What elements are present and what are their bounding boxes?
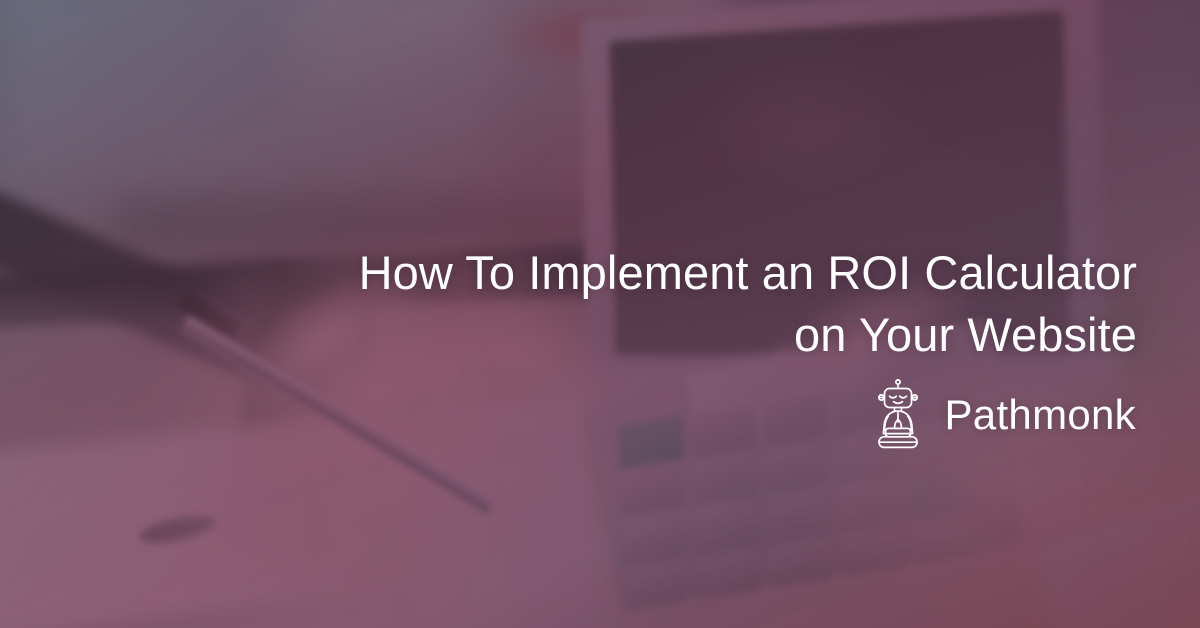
headline-line-1: How To Implement an ROI Calculator — [237, 242, 1137, 304]
brand-wordmark: Pathmonk — [944, 394, 1136, 436]
headline: How To Implement an ROI Calculator on Yo… — [237, 242, 1137, 366]
headline-line-2: on Your Website — [237, 304, 1137, 366]
social-share-card: How To Implement an ROI Calculator on Yo… — [0, 0, 1200, 628]
brand-logo: Pathmonk — [870, 378, 1136, 452]
meditating-robot-monk-icon — [870, 378, 926, 452]
card-content: How To Implement an ROI Calculator on Yo… — [0, 0, 1200, 628]
